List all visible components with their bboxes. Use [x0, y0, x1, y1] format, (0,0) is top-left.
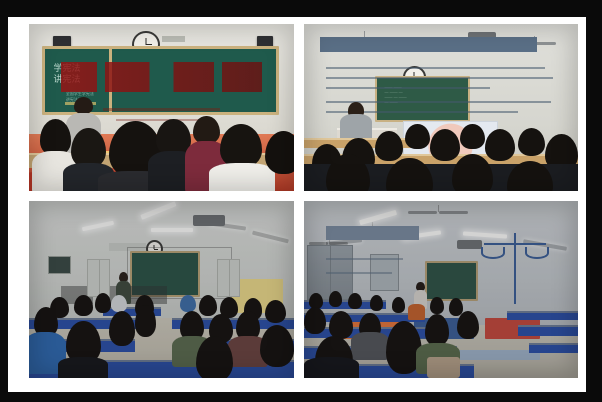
student-head: [95, 293, 111, 312]
ceiling-projector: [193, 215, 225, 226]
student-body-foreground: [304, 357, 359, 378]
student-body-foreground: [58, 357, 108, 378]
slide-body-line: [326, 258, 403, 260]
photo-bottom-left[interactable]: [29, 201, 294, 378]
fluorescent-tube: [151, 228, 193, 232]
student-head: [220, 124, 262, 167]
student-head: [430, 129, 460, 161]
student-head: [111, 295, 127, 313]
photo-top-left[interactable]: 学宪法讲宪法 全国学生学宪法讲宪法活动: [29, 24, 294, 191]
scales-of-justice-icon: [479, 233, 550, 304]
photo-top-right[interactable]: —— ——— —— ——— — ——— ——: [304, 24, 578, 191]
student-head: [199, 295, 218, 316]
student-head: [265, 300, 286, 323]
slide-body-line: [326, 272, 392, 274]
green-chalkboard: [425, 261, 478, 300]
green-chalkboard: —— ——— —— ——— — ——— ——: [375, 76, 469, 122]
slide-title-glyphs: [320, 37, 550, 52]
student-head: [348, 293, 362, 309]
photo-bottom-right[interactable]: [304, 201, 578, 378]
door-right: [217, 259, 240, 296]
student-head: [405, 124, 430, 149]
desk-row-right: [518, 325, 578, 336]
desk-row-right: [529, 343, 578, 354]
slide-subtitle-line-1: [103, 108, 220, 111]
slide-body-line: [326, 67, 545, 69]
student-head-foreground: [109, 311, 136, 346]
student-head-foreground: [135, 305, 156, 337]
student-head: [74, 295, 93, 316]
student-head: [392, 297, 406, 313]
student-head-foreground: [260, 325, 294, 367]
student-head: [485, 129, 515, 161]
door-left: [87, 259, 110, 296]
student-body: [209, 163, 275, 191]
student-head: [370, 295, 384, 311]
student-body-orange: [408, 304, 424, 320]
slide-title-glyphs: [61, 62, 262, 92]
slide-title-glyphs: [326, 226, 419, 240]
collage-frame: 学宪法讲宪法 全国学生学宪法讲宪法活动: [0, 0, 602, 402]
student-head-foreground: [425, 314, 450, 346]
student-head: [180, 295, 196, 313]
ceiling-fan: [408, 205, 468, 223]
student-head: [430, 297, 444, 315]
student-head: [329, 291, 343, 307]
slide-body-line: [326, 77, 553, 79]
slide-body-line: [326, 87, 490, 89]
student-head: [375, 131, 402, 161]
student-head: [193, 116, 220, 144]
wall-panel: [48, 256, 71, 274]
student-body-foreground: [351, 332, 389, 360]
presenter-head: [74, 97, 93, 114]
student-head: [460, 124, 485, 149]
ceiling-mount-bracket: [162, 36, 186, 43]
backpack: [427, 357, 460, 378]
student-head-foreground: [304, 307, 326, 334]
desk-row-right: [507, 311, 578, 320]
